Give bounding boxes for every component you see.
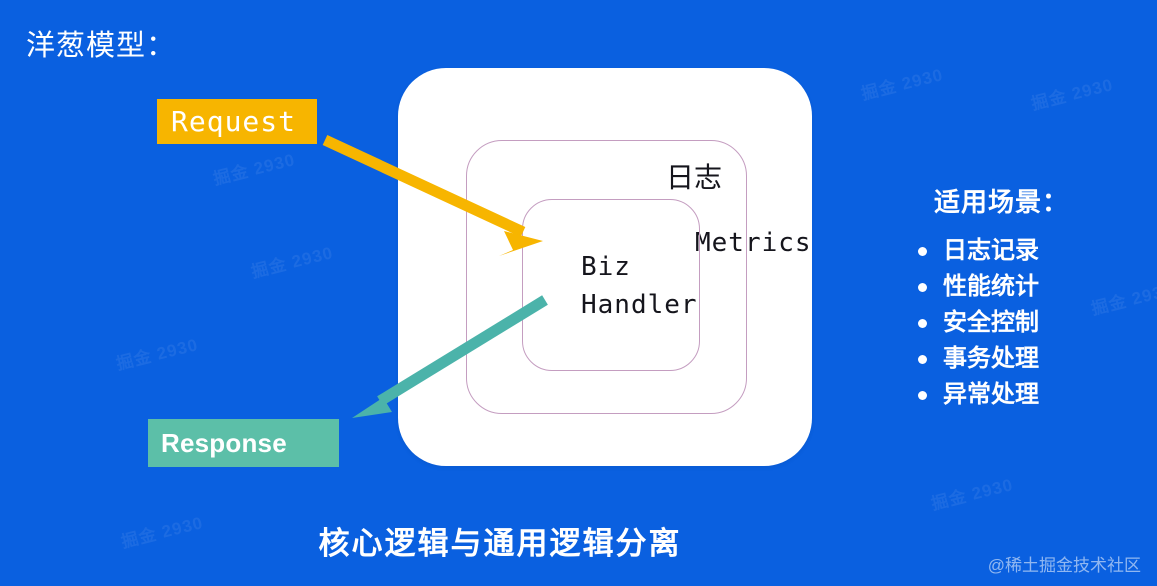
inner-layer-label-line2: Handler <box>581 286 698 324</box>
use-cases-list: 日志记录 性能统计 安全控制 事务处理 异常处理 <box>918 233 1148 413</box>
use-cases-panel: 适用场景： 日志记录 性能统计 安全控制 事务处理 异常处理 <box>918 182 1148 413</box>
corner-watermark: @稀土掘金技术社区 <box>988 551 1141 576</box>
background-watermark: 掘金 2930 <box>858 60 945 104</box>
bullet-dot-icon <box>918 391 927 400</box>
request-badge-label: Request <box>171 105 296 138</box>
list-item-label: 事务处理 <box>943 341 1039 377</box>
slide-canvas: 掘金 2930 掘金 2930 掘金 2930 掘金 2930 掘金 2930 … <box>0 0 1157 586</box>
onion-outer-layer: 日志 Metrics Biz Handler <box>398 68 812 466</box>
background-watermark: 掘金 2930 <box>113 330 200 374</box>
background-watermark: 掘金 2930 <box>928 470 1015 514</box>
list-item: 事务处理 <box>918 341 1148 377</box>
list-item: 异常处理 <box>918 377 1148 413</box>
response-badge[interactable]: Response <box>148 419 339 467</box>
list-item-label: 安全控制 <box>943 305 1039 341</box>
background-watermark: 掘金 2930 <box>248 238 335 282</box>
inner-layer-label-line1: Biz <box>581 248 698 286</box>
list-item-label: 性能统计 <box>943 269 1039 305</box>
request-badge[interactable]: Request <box>157 99 317 144</box>
bullet-dot-icon <box>918 247 927 256</box>
background-watermark: 掘金 2930 <box>1028 70 1115 114</box>
onion-middle-layer: Metrics Biz Handler <box>466 140 747 414</box>
onion-inner-layer: Biz Handler <box>522 199 700 371</box>
page-title: 洋葱模型： <box>26 22 176 64</box>
list-item-label: 异常处理 <box>943 377 1039 413</box>
list-item-label: 日志记录 <box>943 233 1039 269</box>
list-item: 性能统计 <box>918 269 1148 305</box>
bullet-dot-icon <box>918 283 927 292</box>
inner-layer-label: Biz Handler <box>581 248 698 324</box>
bullet-dot-icon <box>918 355 927 364</box>
list-item: 安全控制 <box>918 305 1148 341</box>
slide-caption: 核心逻辑与通用逻辑分离 <box>0 518 1000 563</box>
list-item: 日志记录 <box>918 233 1148 269</box>
use-cases-heading: 适用场景： <box>934 182 1148 219</box>
background-watermark: 掘金 2930 <box>210 145 297 189</box>
middle-layer-label: Metrics <box>695 228 812 258</box>
response-badge-label: Response <box>161 428 287 459</box>
bullet-dot-icon <box>918 319 927 328</box>
